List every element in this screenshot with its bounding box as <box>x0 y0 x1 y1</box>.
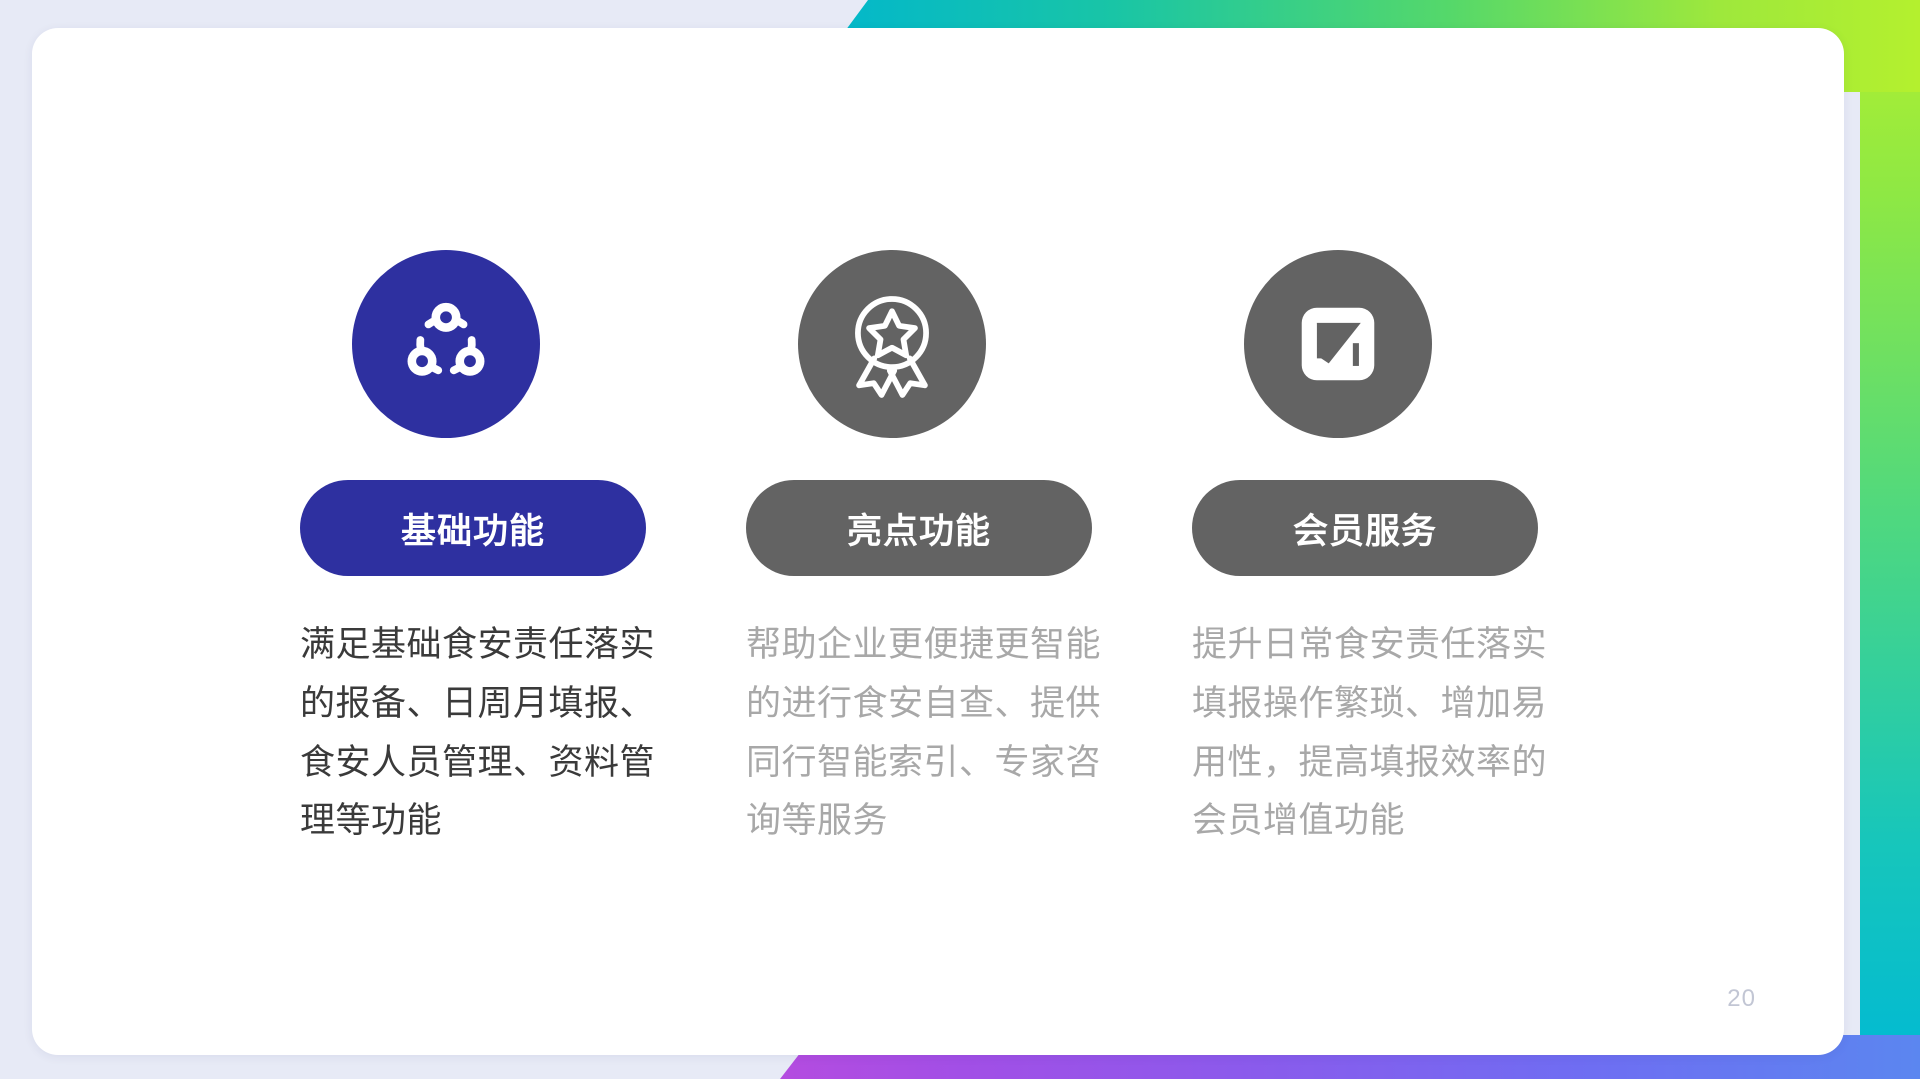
feature-icon-badge <box>352 250 540 438</box>
feature-pill-member[interactable]: 会员服务 <box>1192 480 1538 576</box>
feature-column: 会员服务 提升日常食安责任落实填报操作繁琐、增加易用性，提高填报效率的会员增值功… <box>1192 250 1638 851</box>
feature-pill-label: 会员服务 <box>1293 503 1437 554</box>
vip-check-card-icon <box>1284 290 1392 398</box>
right-edge-gradient-band <box>1860 0 1920 1079</box>
slide-content-card: 基础功能 满足基础食安责任落实的报备、日周月填报、食安人员管理、资料管理等功能 <box>32 28 1844 1055</box>
feature-columns: 基础功能 满足基础食安责任落实的报备、日周月填报、食安人员管理、资料管理等功能 <box>300 250 1640 851</box>
award-ribbon-star-icon <box>838 290 946 398</box>
page-number: 20 <box>1727 985 1756 1013</box>
feature-column: 亮点功能 帮助企业更便捷更智能的进行食安自查、提供同行智能索引、专家咨询等服务 <box>746 250 1192 851</box>
feature-icon-badge <box>1244 250 1432 438</box>
share-network-icon <box>392 290 500 398</box>
feature-pill-label: 基础功能 <box>401 503 545 554</box>
feature-column: 基础功能 满足基础食安责任落实的报备、日周月填报、食安人员管理、资料管理等功能 <box>300 250 746 851</box>
feature-description: 提升日常食安责任落实填报操作繁琐、增加易用性，提高填报效率的会员增值功能 <box>1192 616 1572 851</box>
feature-pill-label: 亮点功能 <box>847 503 991 554</box>
feature-description: 帮助企业更便捷更智能的进行食安自查、提供同行智能索引、专家咨询等服务 <box>746 616 1126 851</box>
feature-pill-basic[interactable]: 基础功能 <box>300 480 646 576</box>
feature-description: 满足基础食安责任落实的报备、日周月填报、食安人员管理、资料管理等功能 <box>300 616 680 851</box>
feature-icon-badge <box>798 250 986 438</box>
feature-pill-highlight[interactable]: 亮点功能 <box>746 480 1092 576</box>
slide-canvas: 基础功能 满足基础食安责任落实的报备、日周月填报、食安人员管理、资料管理等功能 <box>0 0 1920 1079</box>
